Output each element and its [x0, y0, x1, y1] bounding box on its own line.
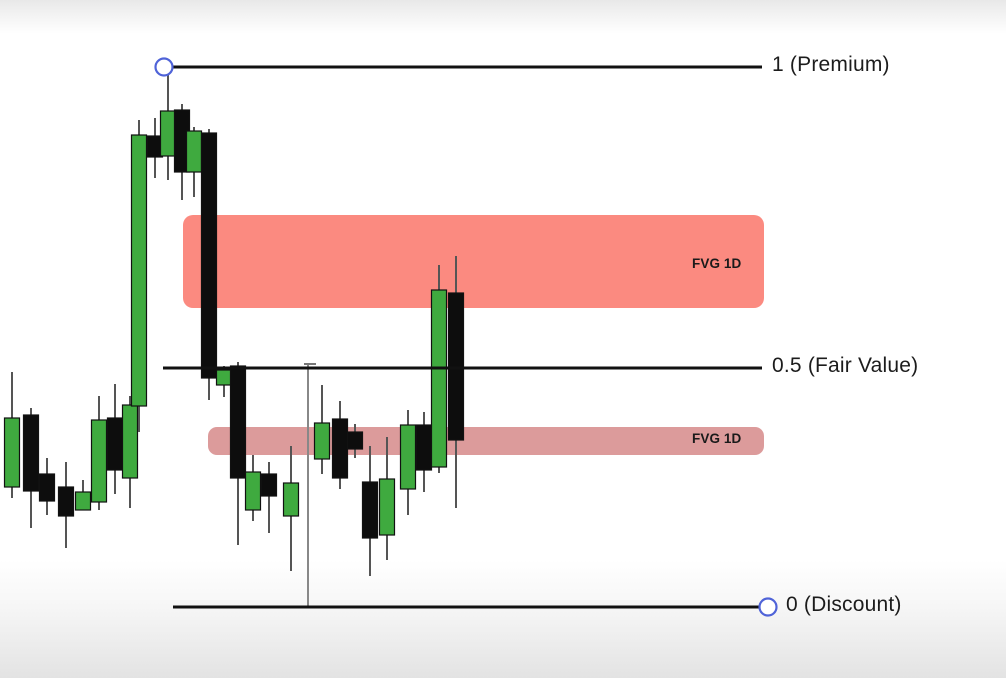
candle-body	[284, 483, 299, 516]
vertical-guide-layer	[304, 363, 316, 607]
candle-body	[202, 133, 217, 378]
level-label-fair-value: 0.5 (Fair Value)	[772, 354, 918, 378]
candlestick-series	[5, 72, 464, 576]
fvg-upper-rect[interactable]	[183, 215, 764, 308]
candlestick-bear	[24, 408, 39, 528]
candle-body	[161, 111, 176, 156]
candle-body	[76, 492, 91, 510]
fvg-lower-label: FVG 1D	[692, 431, 741, 446]
fvg-zone-layer	[183, 215, 764, 455]
candle-body	[132, 135, 147, 406]
candle-body	[92, 420, 107, 502]
candlestick-bull	[217, 366, 232, 397]
candle-body	[59, 487, 74, 516]
candlestick-bear	[202, 129, 217, 400]
candlestick-bull	[76, 480, 91, 510]
fvg-upper-label: FVG 1D	[692, 256, 741, 271]
candlestick-chart	[0, 0, 1006, 678]
candlestick-bull	[401, 410, 416, 515]
candlestick-bear	[59, 462, 74, 548]
candle-body	[187, 131, 202, 172]
candle-body	[315, 423, 330, 459]
candle-body	[24, 415, 39, 491]
candlestick-bear	[333, 401, 348, 489]
candlestick-bull	[123, 396, 138, 508]
candle-body	[231, 366, 246, 478]
chart-canvas: 1 (Premium) 0.5 (Fair Value) 0 (Discount…	[0, 0, 1006, 678]
candle-body	[123, 405, 138, 478]
level-handle-premium[interactable]	[156, 59, 173, 76]
level-handle-discount[interactable]	[760, 599, 777, 616]
candle-body	[217, 370, 232, 385]
candle-body	[333, 419, 348, 478]
candle-body	[363, 482, 378, 538]
candlestick-bull	[132, 120, 147, 432]
candle-body	[401, 425, 416, 489]
candlestick-bear	[231, 362, 246, 545]
candlestick-bear	[40, 458, 55, 515]
candlestick-bear	[108, 384, 123, 494]
candle-body	[417, 425, 432, 470]
candle-body	[432, 290, 447, 467]
level-label-discount: 0 (Discount)	[786, 593, 902, 617]
price-level-layer	[156, 59, 777, 616]
candlestick-bull	[187, 127, 202, 197]
candlestick-bear	[262, 462, 277, 533]
candle-body	[348, 432, 363, 449]
candlestick-bull	[246, 455, 261, 521]
candlestick-bull	[315, 385, 330, 474]
candle-body	[5, 418, 20, 487]
candle-body	[108, 418, 123, 470]
candle-body	[246, 472, 261, 510]
candlestick-bull	[380, 437, 395, 560]
candlestick-bear	[449, 256, 464, 508]
candlestick-bear	[417, 412, 432, 492]
candlestick-bull	[284, 446, 299, 571]
candlestick-bull	[5, 372, 20, 498]
candlestick-bear	[363, 446, 378, 576]
candlestick-bull	[161, 72, 176, 180]
level-label-premium: 1 (Premium)	[772, 53, 890, 77]
candle-body	[380, 479, 395, 535]
candlestick-bull	[92, 396, 107, 510]
candle-body	[262, 474, 277, 496]
candle-body	[40, 474, 55, 501]
